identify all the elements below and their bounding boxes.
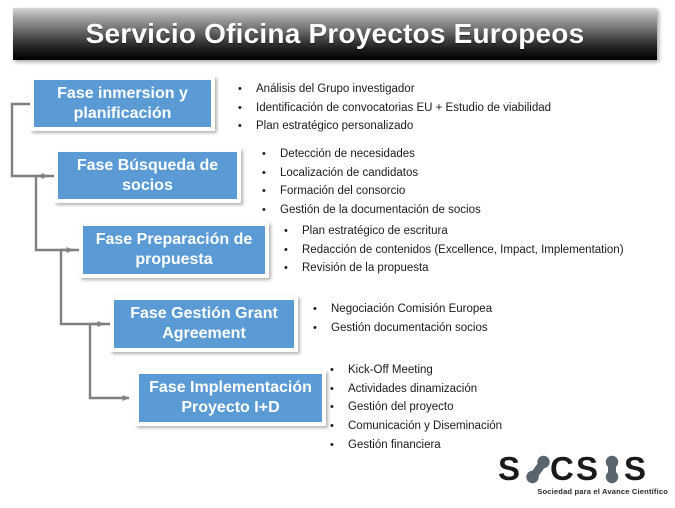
sacsis-wordmark-icon: S C S S: [496, 452, 668, 486]
phase-box-fill: Fase Gestión Grant Agreement: [114, 300, 294, 348]
bullet-list-fase-implementacion-proyecto-id: •Kick-Off Meeting•Actividades dinamizaci…: [330, 361, 502, 454]
bullet-list-fase-gestion-grant-agreement: •Negociación Comisión Europea•Gestión do…: [313, 300, 492, 337]
bullet-text: Gestión del proyecto: [348, 398, 502, 417]
bullet-text: Detección de necesidades: [280, 145, 481, 164]
logo-letter-s1: S: [498, 452, 520, 486]
bullet-text: Gestión de la documentación de socios: [280, 201, 481, 220]
bullet-item: •Redacción de contenidos (Excellence, Im…: [284, 241, 624, 260]
logo-letter-s3: S: [624, 452, 646, 486]
bullet-list-fase-inmersion-y-planificacion: •Análisis del Grupo investigador•Identif…: [238, 80, 551, 136]
bullet-dot-icon: •: [238, 103, 256, 114]
bullet-text: Gestión documentación socios: [331, 319, 492, 338]
phase-box-label: Fase Implementación Proyecto I+D: [149, 378, 312, 417]
logo-letter-s2: S: [576, 452, 598, 486]
bullet-text: Negociación Comisión Europea: [331, 300, 492, 319]
bullet-item: •Localización de candidatos: [262, 164, 481, 183]
bullet-text: Kick-Off Meeting: [348, 361, 502, 380]
bullet-dot-icon: •: [284, 263, 302, 274]
page-title: Servicio Oficina Proyectos Europeos: [86, 18, 585, 50]
bullet-item: •Gestión documentación socios: [313, 319, 492, 338]
bullet-dot-icon: •: [238, 84, 256, 95]
bullet-text: Actividades dinamización: [348, 380, 502, 399]
phase-box-fill: Fase inmersion y planificación: [34, 80, 211, 127]
bullet-item: •Comunicación y Diseminación: [330, 417, 502, 436]
bullet-item: •Plan estratégico personalizado: [238, 117, 551, 136]
phase-box-label: Fase Gestión Grant Agreement: [130, 304, 278, 343]
logo-letter-c: C: [550, 452, 574, 486]
bullet-list-fase-preparacion-de-propuesta: •Plan estratégico de escritura•Redacción…: [284, 222, 624, 278]
phase-box-fase-gestion-grant-agreement[interactable]: Fase Gestión Grant Agreement: [110, 296, 298, 352]
phase-box-label: Fase inmersion y planificación: [57, 84, 188, 123]
bullet-text: Plan estratégico de escritura: [302, 222, 624, 241]
bullet-dot-icon: •: [330, 402, 348, 413]
bullet-text: Localización de candidatos: [280, 164, 481, 183]
bullet-dot-icon: •: [262, 186, 280, 197]
page-title-banner: Servicio Oficina Proyectos Europeos: [13, 8, 657, 60]
bullet-item: •Análisis del Grupo investigador: [238, 80, 551, 99]
bullet-item: •Kick-Off Meeting: [330, 361, 502, 380]
phase-box-fase-busqueda-de-socios[interactable]: Fase Búsqueda de socios: [54, 148, 241, 203]
bullet-text: Revisión de la propuesta: [302, 259, 624, 278]
logo-dumbbell-a-icon: [526, 456, 549, 483]
bullet-text: Gestión financiera: [348, 436, 502, 455]
bullet-dot-icon: •: [330, 365, 348, 376]
logo-dumbbell-i-icon: [606, 456, 618, 483]
bullet-text: Análisis del Grupo investigador: [256, 80, 551, 99]
bullet-text: Comunicación y Diseminación: [348, 417, 502, 436]
bullet-dot-icon: •: [262, 168, 280, 179]
bullet-item: •Gestión del proyecto: [330, 398, 502, 417]
sacsis-logo: S C S S Sociedad para el Avance Científi…: [496, 452, 668, 502]
bullet-item: •Detección de necesidades: [262, 145, 481, 164]
bullet-dot-icon: •: [330, 421, 348, 432]
bullet-item: •Negociación Comisión Europea: [313, 300, 492, 319]
bullet-item: •Revisión de la propuesta: [284, 259, 624, 278]
bullet-dot-icon: •: [313, 323, 331, 334]
bullet-text: Identificación de convocatorias EU + Est…: [256, 99, 551, 118]
phase-box-fase-implementacion-proyecto-id[interactable]: Fase Implementación Proyecto I+D: [135, 370, 326, 426]
phase-box-fill: Fase Implementación Proyecto I+D: [139, 374, 322, 422]
bullet-item: •Gestión de la documentación de socios: [262, 201, 481, 220]
bullet-dot-icon: •: [238, 121, 256, 132]
bullet-text: Plan estratégico personalizado: [256, 117, 551, 136]
bullet-list-fase-busqueda-de-socios: •Detección de necesidades•Localización d…: [262, 145, 481, 220]
bullet-text: Formación del consorcio: [280, 182, 481, 201]
bullet-dot-icon: •: [284, 226, 302, 237]
logo-tagline: Sociedad para el Avance Científico: [496, 487, 668, 496]
bullet-item: •Gestión financiera: [330, 436, 502, 455]
phase-box-label: Fase Búsqueda de socios: [77, 156, 218, 195]
phase-box-fase-inmersion-y-planificacion[interactable]: Fase inmersion y planificación: [30, 76, 215, 131]
phase-box-fill: Fase Búsqueda de socios: [58, 152, 237, 199]
bullet-item: •Plan estratégico de escritura: [284, 222, 624, 241]
bullet-item: •Identificación de convocatorias EU + Es…: [238, 99, 551, 118]
phase-box-fase-preparacion-de-propuesta[interactable]: Fase Preparación de propuesta: [79, 222, 269, 278]
bullet-dot-icon: •: [262, 149, 280, 160]
bullet-item: •Actividades dinamización: [330, 380, 502, 399]
bullet-item: •Formación del consorcio: [262, 182, 481, 201]
bullet-dot-icon: •: [284, 245, 302, 256]
bullet-dot-icon: •: [330, 384, 348, 395]
bullet-dot-icon: •: [313, 304, 331, 315]
bullet-text: Redacción de contenidos (Excellence, Imp…: [302, 241, 624, 260]
phase-box-label: Fase Preparación de propuesta: [96, 230, 253, 269]
phase-box-fill: Fase Preparación de propuesta: [83, 226, 265, 274]
bullet-dot-icon: •: [262, 205, 280, 216]
bullet-dot-icon: •: [330, 440, 348, 451]
